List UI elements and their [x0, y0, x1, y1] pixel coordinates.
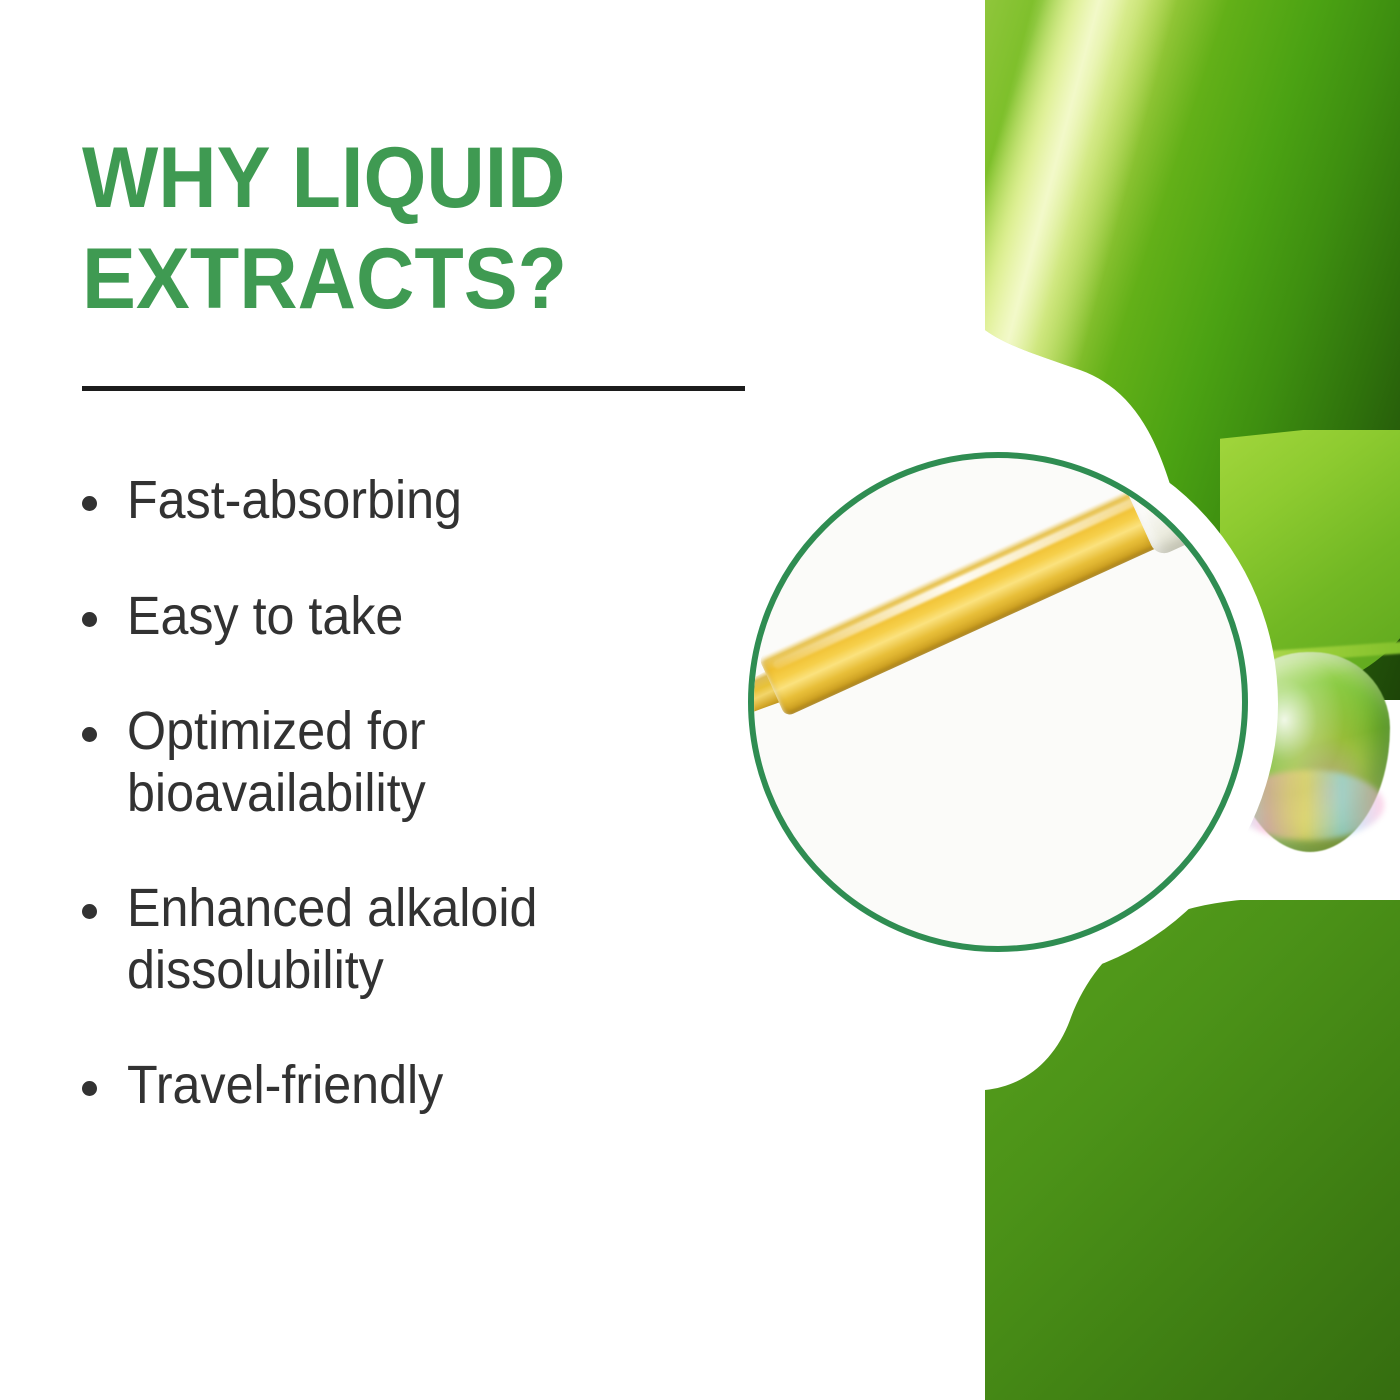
benefit-label: Travel-friendly — [127, 1055, 443, 1117]
benefit-label: Fast-absorbing — [127, 470, 462, 532]
bullet-dot-icon — [82, 612, 97, 627]
benefit-label: Optimized for bioavailability — [127, 701, 426, 824]
list-item: Enhanced alkaloid dissolubility — [82, 878, 762, 1001]
bullet-dot-icon — [82, 904, 97, 919]
infographic-canvas: WHY LIQUID EXTRACTS? Fast-absorbing Easy… — [0, 0, 1400, 1400]
list-item: Travel-friendly — [82, 1055, 762, 1117]
benefits-list: Fast-absorbing Easy to take Optimized fo… — [82, 470, 762, 1171]
title-divider — [82, 386, 745, 391]
bullet-dot-icon — [82, 1081, 97, 1096]
list-item: Easy to take — [82, 586, 762, 648]
glass-highlight — [772, 496, 1140, 670]
list-item: Optimized for bioavailability — [82, 701, 762, 824]
bullet-dot-icon — [82, 727, 97, 742]
dropper-circle-inset — [748, 452, 1248, 952]
benefit-label: Easy to take — [127, 586, 403, 648]
page-title: WHY LIQUID EXTRACTS? — [82, 128, 740, 331]
list-item: Fast-absorbing — [82, 470, 762, 532]
bullet-dot-icon — [82, 496, 97, 511]
benefit-label: Enhanced alkaloid dissolubility — [127, 878, 537, 1001]
